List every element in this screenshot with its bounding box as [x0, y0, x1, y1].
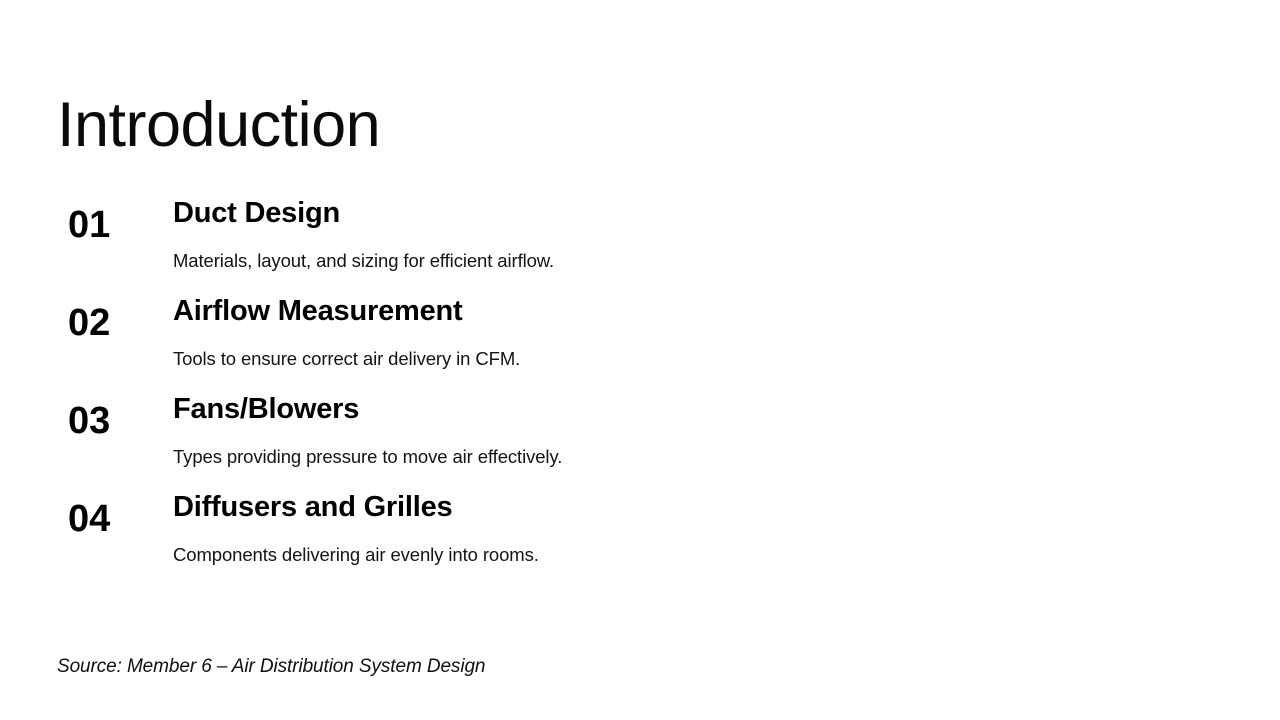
list-item-number: 04 [68, 500, 160, 538]
list-item-heading: Fans/Blowers [173, 392, 1123, 427]
list-item-heading: Duct Design [173, 196, 1123, 231]
source-attribution: Source: Member 6 – Air Distribution Syst… [57, 656, 485, 678]
list-item: 01 Duct Design Materials, layout, and si… [0, 196, 1280, 294]
list-item: 03 Fans/Blowers Types providing pressure… [0, 392, 1280, 490]
list-item: 04 Diffusers and Grilles Components deli… [0, 490, 1280, 588]
list-item-number: 02 [68, 304, 160, 342]
list-item-heading: Diffusers and Grilles [173, 490, 1123, 525]
list-item-body: Diffusers and Grilles Components deliver… [173, 490, 1123, 567]
list-item-description: Types providing pressure to move air eff… [173, 445, 1123, 469]
list-item-body: Duct Design Materials, layout, and sizin… [173, 196, 1123, 273]
page-title: Introduction [57, 90, 380, 161]
list-item-description: Components delivering air evenly into ro… [173, 543, 1123, 567]
agenda-list: 01 Duct Design Materials, layout, and si… [0, 196, 1280, 588]
list-item-body: Airflow Measurement Tools to ensure corr… [173, 294, 1123, 371]
list-item-number: 03 [68, 402, 160, 440]
list-item: 02 Airflow Measurement Tools to ensure c… [0, 294, 1280, 392]
slide-canvas: Introduction 01 Duct Design Materials, l… [0, 0, 1280, 720]
list-item-body: Fans/Blowers Types providing pressure to… [173, 392, 1123, 469]
list-item-number: 01 [68, 206, 160, 244]
list-item-description: Tools to ensure correct air delivery in … [173, 347, 1123, 371]
list-item-heading: Airflow Measurement [173, 294, 1123, 329]
list-item-description: Materials, layout, and sizing for effici… [173, 249, 1123, 273]
